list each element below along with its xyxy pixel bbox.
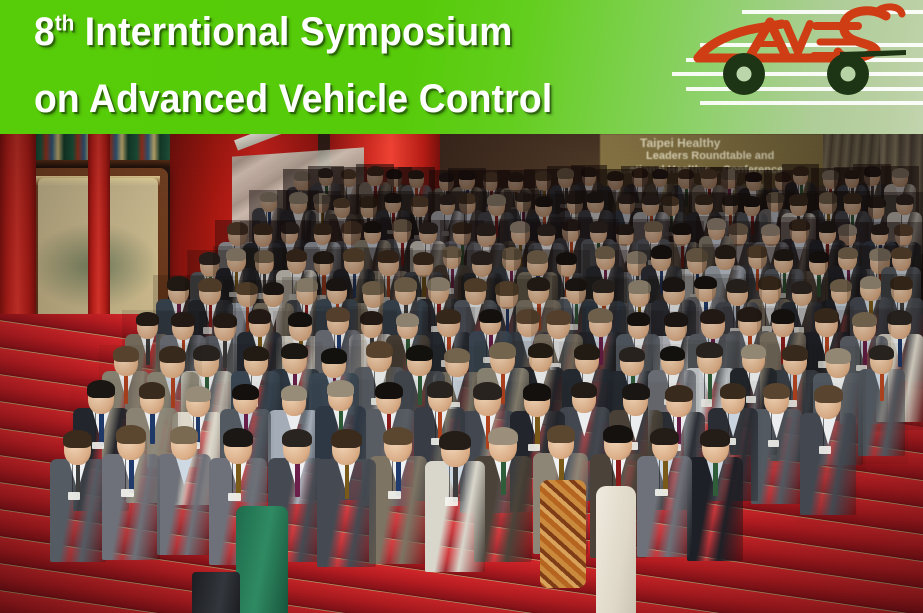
delegate-hair xyxy=(281,222,299,233)
delegate-figure xyxy=(369,428,427,570)
delegate-hair xyxy=(814,308,839,323)
delegate-hair xyxy=(793,166,809,176)
delegate-hair xyxy=(745,172,761,182)
delegate-hair xyxy=(896,194,914,205)
delegate-hair xyxy=(574,344,600,360)
delegate-figure xyxy=(751,384,803,509)
delegate-name-badge xyxy=(819,446,831,454)
symposium-header-banner: 8th Interntional Symposium on Advanced V… xyxy=(0,0,923,134)
delegate-hair xyxy=(726,279,749,293)
delegate-name-badge xyxy=(445,497,458,505)
delegate-hair xyxy=(427,381,454,397)
delegate-hair xyxy=(527,250,549,263)
delegate-name-badge xyxy=(121,489,134,497)
delegate-hair xyxy=(406,345,432,361)
delegate-hair xyxy=(343,248,365,261)
delegate-hair xyxy=(476,223,496,235)
delegate-hair xyxy=(694,276,716,290)
delegate-hair xyxy=(510,221,530,233)
delegate-hair xyxy=(473,382,502,400)
delegate-hair xyxy=(527,277,550,291)
delegate-hair xyxy=(171,312,195,327)
delegate-hair xyxy=(743,196,760,206)
headline-line-2: on Advanced Vehicle Control xyxy=(34,77,552,122)
delegate-hair xyxy=(581,167,597,177)
delegate-hair xyxy=(707,218,725,229)
delegate-hair xyxy=(333,198,350,209)
delegate-hair xyxy=(87,380,116,398)
delegate-hair xyxy=(589,221,607,232)
delegate-hair xyxy=(248,309,272,323)
delegate-figure xyxy=(800,386,856,521)
delegate-hair xyxy=(695,194,714,205)
delegate-hair xyxy=(436,309,460,324)
delegate-lanyard xyxy=(659,458,660,488)
delegate-hair xyxy=(627,312,650,326)
delegate-hair xyxy=(818,221,837,233)
delegate-hair xyxy=(282,429,312,447)
delegate-hair xyxy=(281,343,307,359)
delegate-figure xyxy=(50,432,106,568)
delegate-lanyard xyxy=(392,459,393,491)
delegate-lanyard xyxy=(449,464,450,497)
delegate-figure xyxy=(637,429,692,563)
delegate-hair xyxy=(665,385,693,402)
delegate-hair xyxy=(588,308,613,324)
delegate-hair xyxy=(860,276,882,289)
delegate-lanyard xyxy=(232,460,233,492)
delegate-necktie xyxy=(345,462,350,499)
delegate-hair xyxy=(408,170,424,180)
delegate-hair xyxy=(789,219,809,231)
delegate-hair xyxy=(825,348,851,364)
delegate-figure xyxy=(858,346,905,461)
delegate-name-badge xyxy=(655,489,667,497)
delegate-necktie xyxy=(501,459,506,495)
delegate-hair xyxy=(458,170,475,181)
delegate-name-badge xyxy=(68,492,80,500)
delegate-hair xyxy=(737,307,762,322)
delegate-hair xyxy=(537,224,556,236)
screenshot-root: 8th Interntional Symposium on Advanced V… xyxy=(0,0,923,613)
delegate-hair xyxy=(442,246,462,258)
delegate-hair xyxy=(294,171,311,181)
delegate-hair xyxy=(360,311,383,325)
delegate-hair xyxy=(243,346,269,362)
delegate-hair xyxy=(439,431,470,450)
delegate-hair xyxy=(327,380,353,396)
delegate-hair xyxy=(439,194,456,205)
delegate-hair xyxy=(223,428,253,447)
delegate-hair xyxy=(213,313,237,328)
delegate-light-dress xyxy=(596,486,636,613)
delegate-hair xyxy=(838,247,858,259)
delegate-name-badge xyxy=(768,440,779,447)
delegate-hair xyxy=(700,169,717,179)
ordinal-number: 8 xyxy=(34,10,55,54)
delegate-hair xyxy=(410,196,429,207)
delegate-hair xyxy=(651,245,672,258)
delegate-lanyard xyxy=(612,456,613,487)
ordinal-suffix: th xyxy=(55,11,74,36)
delegate-hair xyxy=(782,345,808,361)
delegate-name-badge xyxy=(388,491,401,499)
delegate-hair xyxy=(321,348,347,364)
delegate-hair xyxy=(63,430,92,448)
delegate-hair xyxy=(289,192,308,204)
delegate-hair xyxy=(528,343,552,358)
delegate-hair xyxy=(761,224,780,236)
delegate-hair xyxy=(313,223,332,235)
delegate-hair xyxy=(720,383,746,399)
delegate-hair xyxy=(615,224,634,236)
delegate-hair xyxy=(488,427,518,445)
delegate-hair xyxy=(116,425,146,443)
delegate-hair xyxy=(644,221,662,232)
delegate-hair xyxy=(170,426,198,443)
delegate-hair xyxy=(592,279,615,293)
delegate-hair xyxy=(664,312,688,327)
delegate-hair xyxy=(869,345,894,360)
delegate-hair xyxy=(483,172,499,182)
delegate-hair xyxy=(607,171,623,181)
delegate-lanyard xyxy=(771,411,772,439)
delegate-hair xyxy=(326,307,350,322)
delegate-hair xyxy=(185,386,211,402)
delegate-hair xyxy=(198,278,221,292)
delegate-hair xyxy=(113,346,138,362)
delegate-hair xyxy=(650,428,679,446)
delegate-hair xyxy=(396,313,419,327)
delegate-hair xyxy=(763,383,790,399)
delegate-hair xyxy=(253,223,274,236)
delegate-necktie xyxy=(880,372,884,402)
conference-group-photograph: Taipei Healthy Leaders Roundtable and ..… xyxy=(0,134,923,613)
delegate-hair xyxy=(700,429,729,447)
delegate-hair xyxy=(557,168,574,178)
delegate-hair xyxy=(394,277,418,291)
delegate-hair xyxy=(843,193,861,204)
delegate-hair xyxy=(830,279,852,292)
delegate-hair xyxy=(295,278,318,292)
delegate-hair xyxy=(464,278,486,292)
delegate-hair xyxy=(622,383,650,400)
delegate-hair xyxy=(523,383,552,400)
delegate-hair xyxy=(281,385,307,401)
delegate-hair xyxy=(892,168,909,178)
delegate-hair xyxy=(232,384,258,400)
delegate-hair xyxy=(288,312,313,327)
delegate-hair xyxy=(546,310,571,326)
delegate-lanyard xyxy=(823,415,824,446)
delegate-hair xyxy=(871,224,889,235)
delegate-hair xyxy=(383,427,413,446)
delegate-hair xyxy=(263,282,285,295)
delegate-hair xyxy=(362,281,385,295)
delegate-hair xyxy=(660,346,685,361)
delegate-hair xyxy=(471,251,493,264)
delegate-hair xyxy=(595,246,615,258)
delegate-lanyard xyxy=(125,457,126,489)
delegate-necktie xyxy=(295,461,300,497)
delegate-hair xyxy=(366,341,393,357)
delegate-hair xyxy=(377,250,399,264)
delegate-hair xyxy=(642,194,661,205)
delegate-hair xyxy=(413,252,434,265)
delegate-hair xyxy=(479,309,502,323)
delegate-lanyard xyxy=(72,461,73,492)
delegate-hair xyxy=(652,169,667,178)
delegate-hair xyxy=(700,309,725,325)
delegate-hair xyxy=(791,281,813,294)
delegate-hair xyxy=(887,310,912,325)
delegate-hair xyxy=(136,312,159,326)
delegate-figure xyxy=(157,428,212,560)
delegate-hair xyxy=(789,194,808,205)
delegate-hair xyxy=(318,168,334,178)
delegate-hair xyxy=(844,170,860,180)
delegate-hair xyxy=(852,312,877,327)
delegates-crowd xyxy=(0,134,923,613)
delegate-hair xyxy=(254,250,274,263)
delegate-hair xyxy=(326,278,348,291)
delegate-hair xyxy=(508,172,524,182)
delegate-hair xyxy=(489,342,516,359)
delegate-necktie xyxy=(713,460,718,495)
delegate-hair xyxy=(890,276,913,290)
delegate-figure xyxy=(425,432,485,578)
delegate-name-badge xyxy=(228,493,241,501)
delegate-hair xyxy=(535,196,553,207)
delegate-figure xyxy=(687,430,743,567)
delegate-hair xyxy=(139,382,166,398)
avec-car-logo xyxy=(690,2,923,106)
delegate-green-jacket xyxy=(236,506,288,613)
delegate-hair xyxy=(774,249,795,262)
delegate-hair xyxy=(715,245,736,258)
delegate-briefcase xyxy=(192,572,240,613)
headline-line-1-text: Interntional Symposium xyxy=(85,10,513,54)
delegate-hair xyxy=(286,249,307,262)
delegate-floral-jacket xyxy=(540,480,586,588)
delegate-hair xyxy=(226,248,246,261)
delegate-hair xyxy=(672,223,692,235)
delegate-hair xyxy=(260,192,277,203)
delegate-hair xyxy=(696,342,723,359)
delegate-hair xyxy=(363,221,382,233)
delegate-hair xyxy=(359,196,377,207)
delegate-hair xyxy=(814,385,843,403)
delegate-hair xyxy=(375,382,403,399)
delegate-hair xyxy=(367,166,384,176)
delegate-hair xyxy=(444,348,470,364)
delegate-hair xyxy=(662,277,686,291)
delegate-hair xyxy=(758,276,782,290)
delegate-hair xyxy=(384,193,401,204)
delegate-hair xyxy=(427,277,450,291)
delegate-hair xyxy=(891,247,912,260)
delegate-hair xyxy=(341,169,356,178)
delegate-hair xyxy=(809,251,829,263)
delegate-hair xyxy=(556,252,577,265)
delegate-hair xyxy=(419,222,438,234)
delegate-hair xyxy=(571,382,597,398)
delegate-hair xyxy=(741,344,766,359)
delegate-hair xyxy=(771,309,795,324)
delegate-hair xyxy=(628,280,651,294)
delegate-hair xyxy=(586,192,604,203)
delegate-hair xyxy=(547,425,575,442)
headline-line-1: 8th Interntional Symposium xyxy=(34,10,513,55)
delegate-hair xyxy=(603,425,632,443)
delegate-hair xyxy=(619,347,644,363)
delegate-hair xyxy=(159,346,186,363)
delegate-figure xyxy=(317,431,376,573)
delegate-hair xyxy=(331,429,362,448)
delegate-figure xyxy=(102,427,159,565)
delegate-hair xyxy=(487,194,506,205)
